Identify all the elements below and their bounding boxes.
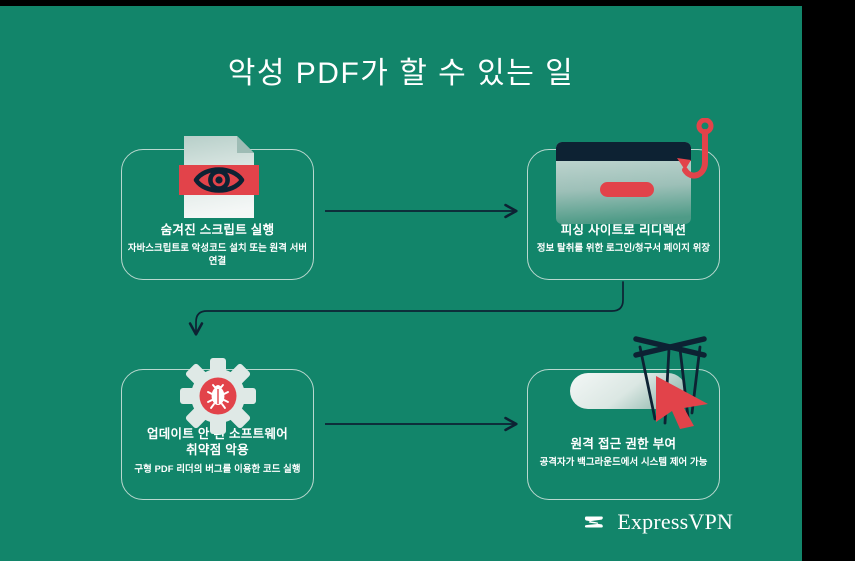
brand-wordmark: ExpressVPN <box>617 509 733 535</box>
expressvpn-logo[interactable]: ExpressVPN <box>583 505 733 539</box>
card-remote-access[interactable]: 원격 접근 권한 부여 공격자가 백그라운드에서 시스템 제어 가능 <box>527 369 720 500</box>
card-title: 피싱 사이트로 리디렉션 <box>528 222 719 238</box>
page-title: 악성 PDF가 할 수 있는 일 <box>0 48 802 92</box>
card-hidden-script[interactable]: 숨겨진 스크립트 실행 자바스크립트로 악성코드 설치 또는 원격 서버 연결 <box>121 149 314 280</box>
card-outdated-software[interactable]: 업데이트 안 된 소프트웨어 취약점 악용 구형 PDF 리더의 버그를 이용한… <box>121 369 314 500</box>
card-description: 공격자가 백그라운드에서 시스템 제어 가능 <box>528 456 719 469</box>
card-description: 정보 탈취를 위한 로그인/청구서 페이지 위장 <box>528 242 719 255</box>
card-title-line-1: 업데이트 안 된 소프트웨어 <box>126 426 309 442</box>
infographic-canvas: 악성 PDF가 할 수 있는 일 숨겨진 스크립트 실행 <box>0 0 855 561</box>
card-title: 원격 접근 권한 부여 <box>528 436 719 452</box>
card-phishing-redirect[interactable]: 피싱 사이트로 리디렉션 정보 탈취를 위한 로그인/청구서 페이지 위장 <box>527 149 720 280</box>
card-title: 업데이트 안 된 소프트웨어 취약점 악용 <box>122 426 313 458</box>
card-description: 구형 PDF 리더의 버그를 이용한 코드 실행 <box>122 463 313 476</box>
arrow-card2-to-card3 <box>196 282 623 334</box>
card-title: 숨겨진 스크립트 실행 <box>122 222 313 238</box>
card-title-line-2: 취약점 악용 <box>126 442 309 458</box>
card-description: 자바스크립트로 악성코드 설치 또는 원격 서버 연결 <box>122 242 313 267</box>
expressvpn-logo-icon <box>583 507 606 537</box>
infographic-stage: 악성 PDF가 할 수 있는 일 숨겨진 스크립트 실행 <box>0 6 802 561</box>
